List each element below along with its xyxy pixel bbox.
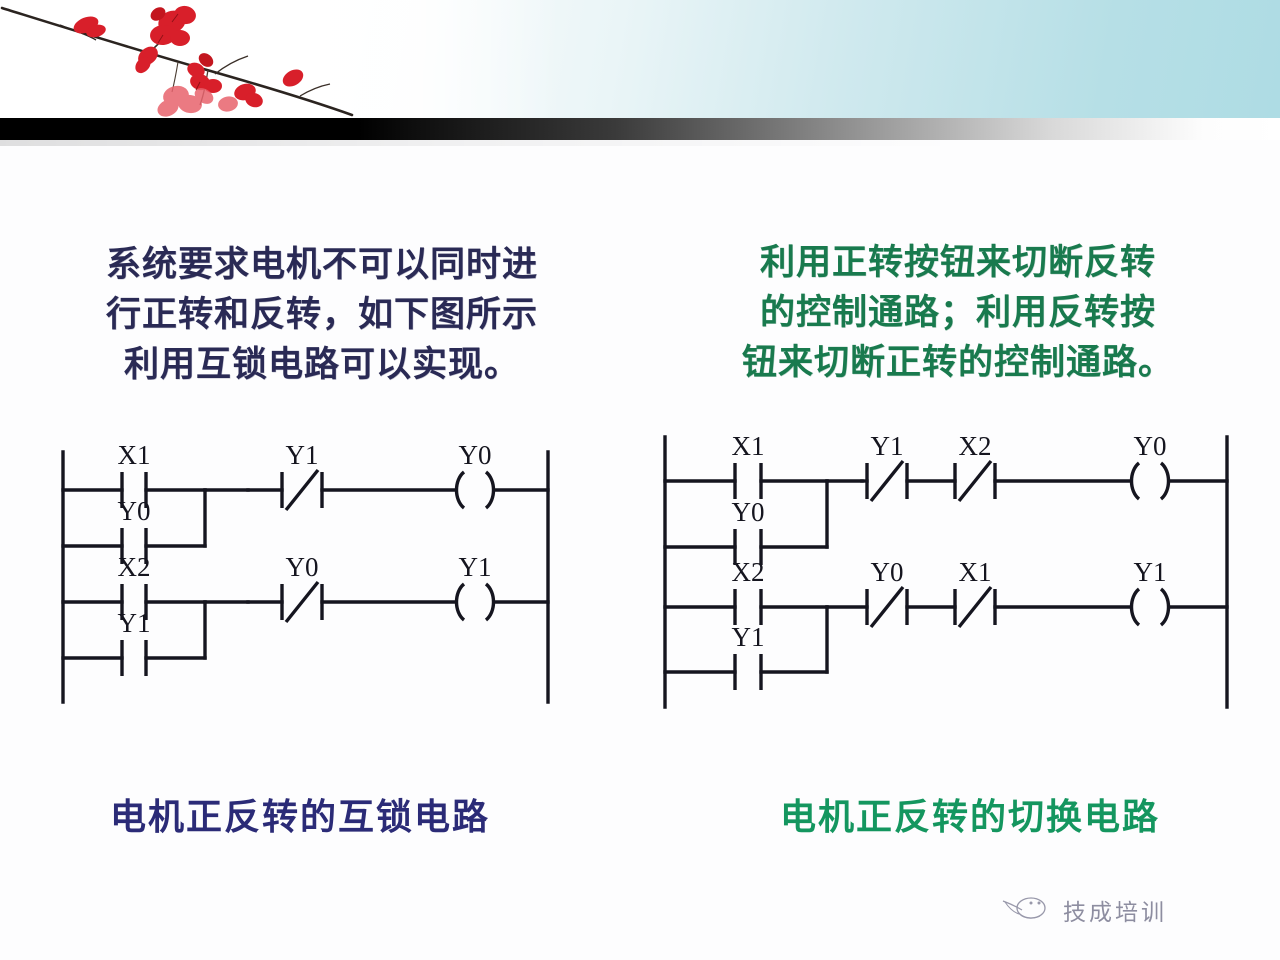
contact-label-x2: X2 [959, 431, 992, 461]
contact-label-y0: Y0 [286, 552, 319, 582]
contact-label-y1-branch: Y1 [118, 608, 151, 638]
contact-label-y1-branch: Y1 [732, 622, 765, 652]
left-diagram-caption: 电机正反转的互锁电路 [40, 788, 560, 840]
interlock-ladder-diagram: X1 Y1 Y0 Y0 X2 Y0 Y1 Y1 [50, 430, 570, 720]
contact-label-x1: X1 [732, 431, 765, 461]
coil-label-y1: Y1 [459, 552, 492, 582]
contact-label-x1: X1 [118, 440, 151, 470]
contact-label-y1: Y1 [286, 440, 319, 470]
left-description-text: 系统要求电机不可以同时进 行正转和反转，如下图所示 利用互锁电路可以实现。 [52, 240, 592, 390]
plum-blossom-branch-icon [0, 0, 460, 120]
coil-label-y0: Y0 [1134, 431, 1167, 461]
header-gradient-shadow [0, 140, 1280, 146]
header-gradient-bar [0, 118, 1280, 140]
contact-label-x2-rung3: X2 [732, 557, 765, 587]
contact-label-y0-branch: Y0 [118, 496, 151, 526]
header-banner [0, 0, 1280, 120]
slide-canvas: 系统要求电机不可以同时进 行正转和反转，如下图所示 利用互锁电路可以实现。 利用… [0, 0, 1280, 960]
watermark: 技成培训 [995, 893, 1167, 927]
switchover-ladder-diagram: X1 Y1 X2 Y0 Y0 X2 Y0 X1 Y1 Y1 [655, 425, 1240, 720]
right-description-text: 利用正转按钮来切断反转 的控制通路；利用反转按 钮来切断正转的控制通路。 [688, 238, 1228, 388]
watermark-text: 技成培训 [1063, 893, 1167, 927]
contact-label-x2: X2 [118, 552, 151, 582]
right-diagram-caption: 电机正反转的切换电路 [710, 788, 1230, 840]
bird-logo-icon [995, 893, 1053, 927]
contact-label-y0-branch: Y0 [732, 497, 765, 527]
coil-label-y0: Y0 [459, 440, 492, 470]
coil-label-y1: Y1 [1134, 557, 1167, 587]
contact-label-x1-rung3: X1 [959, 557, 992, 587]
contact-label-y1: Y1 [871, 431, 904, 461]
contact-label-y0: Y0 [871, 557, 904, 587]
